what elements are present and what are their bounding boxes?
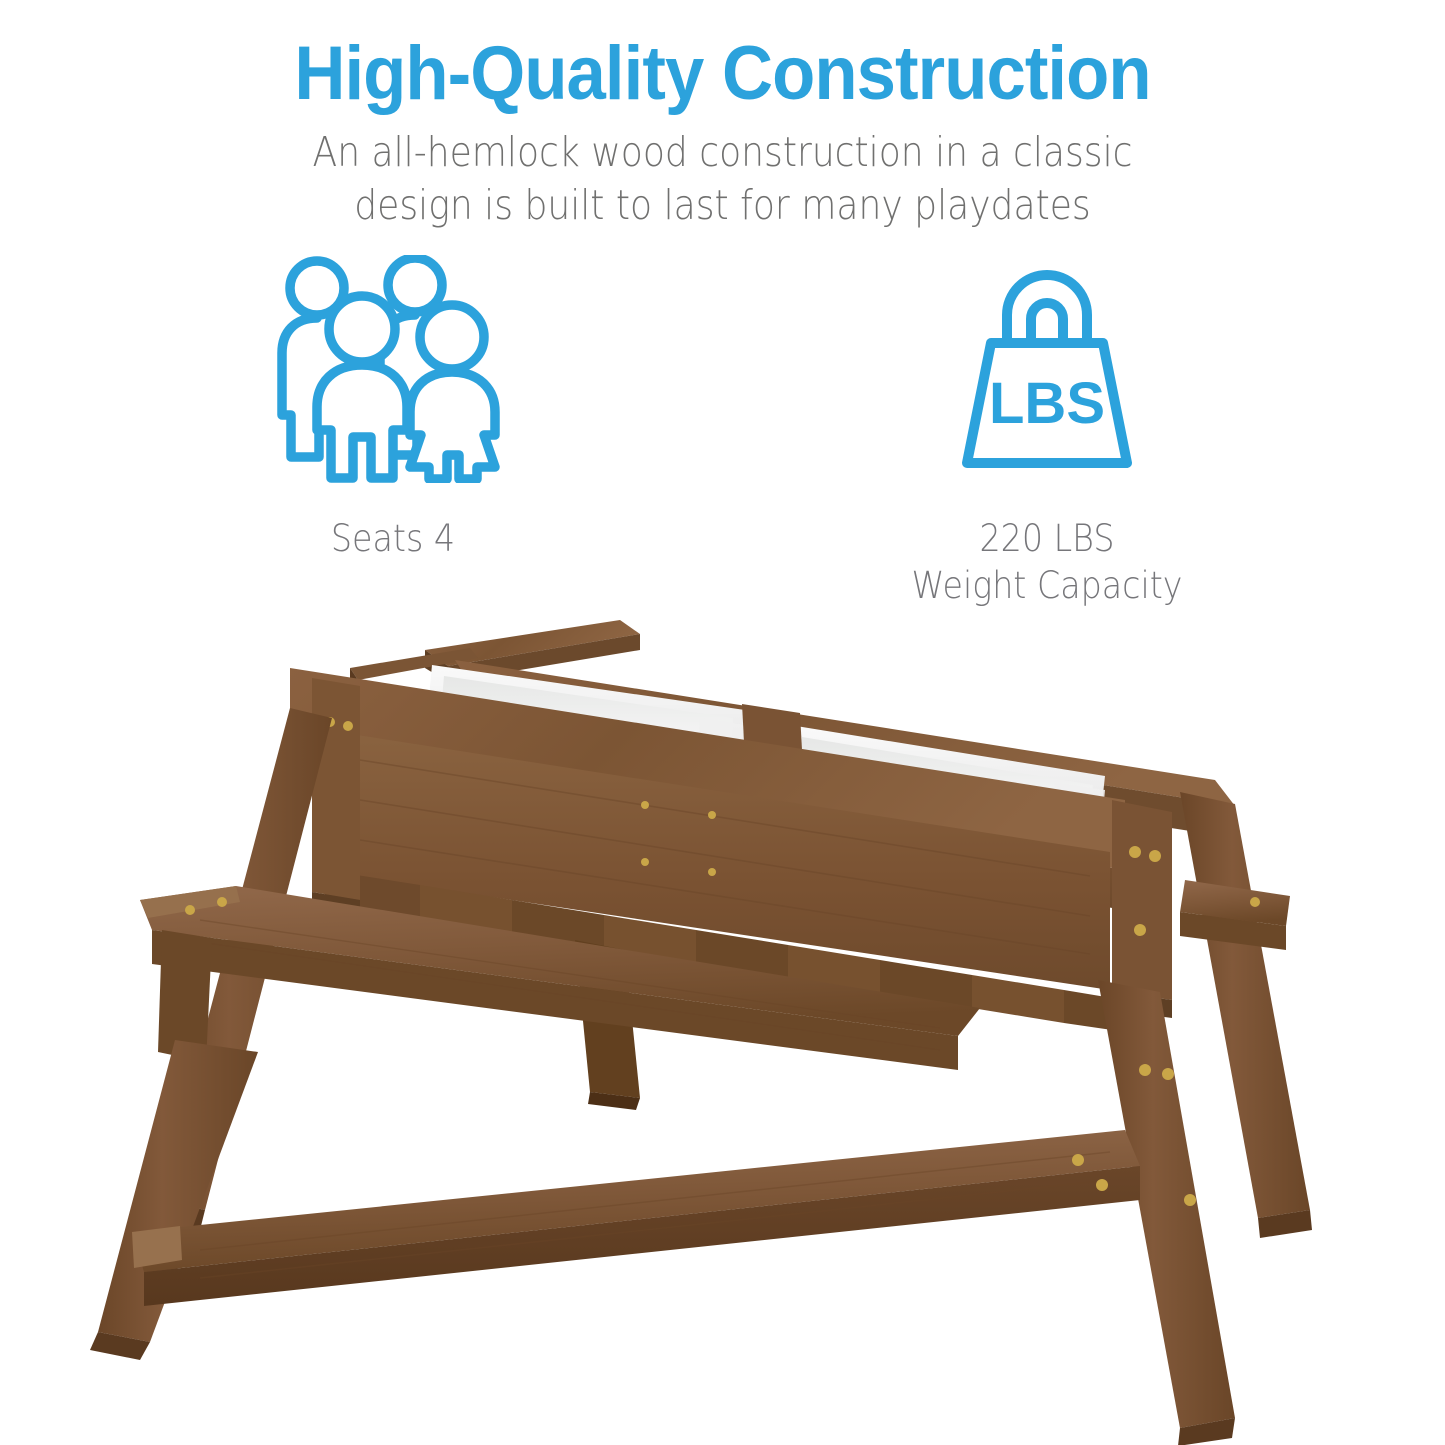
bench-right bbox=[1180, 880, 1290, 950]
product-image bbox=[0, 600, 1445, 1445]
table-leg-right-back bbox=[1180, 792, 1312, 1238]
feature-seats-caption: Seats 4 bbox=[200, 515, 587, 562]
weight-bag-icon-label: LBS bbox=[989, 371, 1105, 436]
feature-weight-caption: 220 LBS Weight Capacity bbox=[854, 515, 1241, 609]
page-title: High-Quality Construction bbox=[51, 34, 1395, 114]
weight-bag-icon-wrap: LBS bbox=[832, 255, 1262, 483]
feature-seats-caption-line-1: Seats 4 bbox=[200, 515, 587, 562]
feature-weight-capacity: LBS 220 LBS Weight Capacity bbox=[832, 255, 1262, 609]
page-subtitle-line-2: design is built to last for many playdat… bbox=[87, 179, 1359, 232]
page-subtitle: An all-hemlock wood construction in a cl… bbox=[87, 126, 1359, 232]
feature-badges: Seats 4 LBS 220 LBS bbox=[0, 255, 1445, 615]
feature-weight-caption-line-1: 220 LBS bbox=[854, 515, 1241, 562]
weight-bag-icon: LBS bbox=[947, 263, 1147, 475]
four-people-icon-wrap bbox=[178, 255, 608, 483]
four-people-icon bbox=[269, 255, 517, 483]
picnic-table-illustration bbox=[0, 600, 1445, 1445]
product-feature-panel: High-Quality Construction An all-hemlock… bbox=[0, 0, 1445, 1445]
table-left-end-frame bbox=[312, 678, 360, 918]
page-subtitle-line-1: An all-hemlock wood construction in a cl… bbox=[87, 126, 1359, 179]
table-leg-front-right bbox=[1098, 980, 1235, 1445]
feature-seats: Seats 4 bbox=[178, 255, 608, 562]
